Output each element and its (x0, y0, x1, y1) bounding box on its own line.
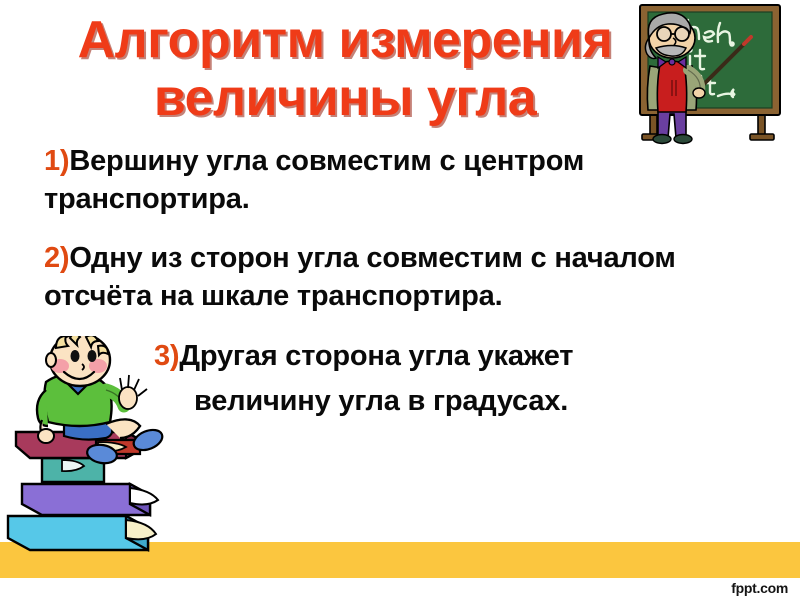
list-item: 1)Вершину угла совместим с центром транс… (44, 143, 756, 218)
list-item: 3)Другая сторона угла укажет величину уг… (154, 338, 674, 421)
title-line-2: величины угла (0, 72, 690, 124)
step-text-line-2: величину угла в градусах. (194, 383, 674, 421)
list-item: 2)Одну из сторон угла совместим с начало… (44, 240, 756, 315)
step-number: 1) (44, 145, 69, 177)
boy-on-books-illustration (2, 336, 192, 562)
page-title: Алгоритм измерения величины угла (0, 14, 690, 124)
slide-canvas: Алгоритм измерения величины угла 1)Верши… (0, 0, 800, 600)
title-line-1: Алгоритм измерения (0, 14, 690, 66)
step-text-line-1: Другая сторона угла укажет (179, 340, 573, 372)
step-number: 2) (44, 242, 69, 274)
teacher-at-chalkboard-illustration (626, 0, 796, 145)
step-text: Вершину угла совместим с центром транспо… (44, 145, 584, 215)
step-text: Одну из сторон угла совместим с началом … (44, 242, 676, 312)
watermark: fppt.com (731, 580, 788, 596)
